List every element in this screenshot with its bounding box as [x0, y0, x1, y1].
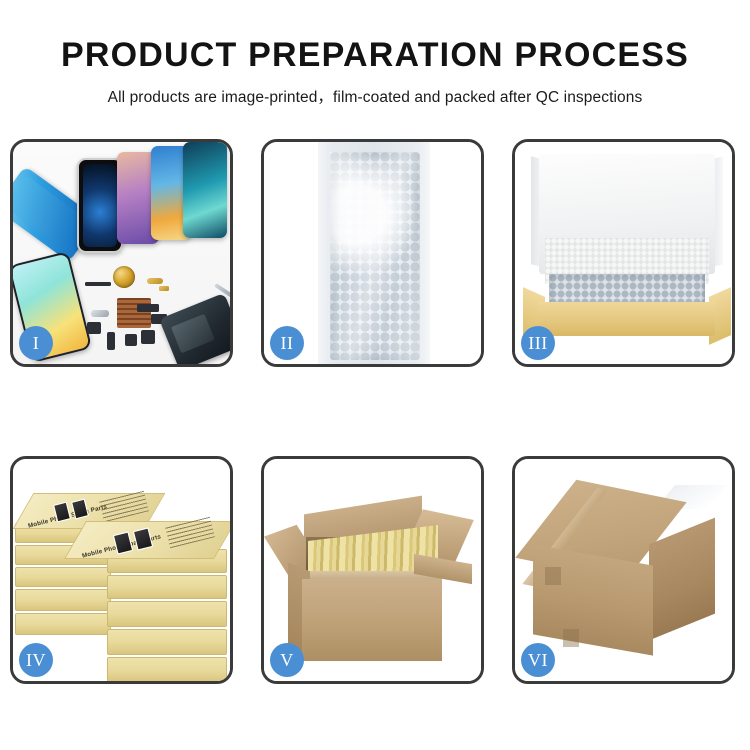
speaker-part	[125, 334, 137, 346]
inner-box-front	[539, 302, 715, 336]
retail-box	[107, 601, 227, 627]
carton-tab-upper	[545, 567, 561, 585]
gold-connector-part	[147, 278, 163, 284]
retail-box	[107, 657, 227, 681]
step-badge-2: II	[270, 326, 304, 360]
vibrator-part	[141, 330, 155, 344]
flex-cable-part	[137, 304, 159, 312]
bubble-wrap-gloss	[330, 152, 420, 360]
step-badge-4: IV	[19, 643, 53, 677]
process-steps-grid: I II III	[10, 139, 740, 684]
retail-box	[15, 567, 111, 587]
retail-box	[15, 589, 111, 611]
gold-bracket-part	[159, 286, 169, 291]
step-panel-3: III	[512, 139, 735, 367]
retail-box	[15, 613, 111, 635]
chip-array-part	[117, 298, 151, 328]
spare-parts-cluster	[85, 264, 230, 364]
camera-module-part	[87, 322, 101, 334]
carton-front-face	[302, 579, 442, 661]
page-header: PRODUCT PREPARATION PROCESS All products…	[0, 0, 750, 107]
phone-mainboard	[159, 293, 230, 364]
step-badge-1: I	[19, 326, 53, 360]
carton-tab-lower	[563, 629, 579, 647]
metal-bracket-part	[91, 310, 109, 317]
copper-coil-part	[113, 266, 135, 288]
step-badge-5: V	[270, 643, 304, 677]
retail-box	[107, 629, 227, 655]
step-panel-2: II	[261, 139, 484, 367]
retail-box	[107, 575, 227, 599]
step-panel-1: I	[10, 139, 233, 367]
step-panel-5: V	[261, 456, 484, 684]
step-panel-6: VI	[512, 456, 735, 684]
step-panel-4: Mobile Phone Spare Parts Mobile Phone Sp…	[10, 456, 233, 684]
phone-screen-teal	[183, 142, 227, 238]
step-badge-3: III	[521, 326, 555, 360]
flex-strip-part	[85, 282, 111, 286]
battery-connector-part	[107, 332, 115, 350]
product-preparation-page: PRODUCT PREPARATION PROCESS All products…	[0, 0, 750, 750]
page-title: PRODUCT PREPARATION PROCESS	[0, 36, 750, 75]
page-subtitle: All products are image-printed，film-coat…	[0, 85, 750, 107]
step-badge-6: VI	[521, 643, 555, 677]
